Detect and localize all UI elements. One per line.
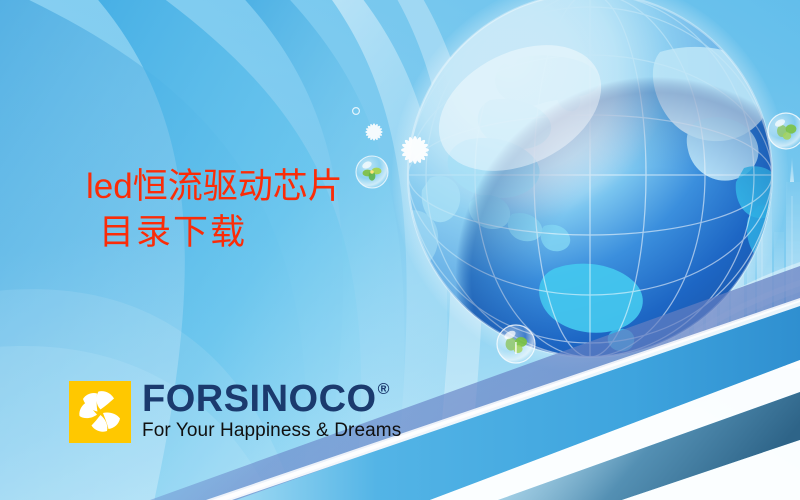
promotional-banner: led恒流驱动芯片 目录下载 FORSINOCO ® For Your Happ… bbox=[0, 0, 800, 500]
logo-text-block: FORSINOCO ® For Your Happiness & Dreams bbox=[142, 381, 401, 440]
registered-trademark-icon: ® bbox=[378, 382, 390, 398]
headline: led恒流驱动芯片 目录下载 bbox=[86, 164, 343, 255]
logo-wordmark-row: FORSINOCO ® bbox=[142, 381, 401, 418]
company-logo: FORSINOCO ® For Your Happiness & Dreams bbox=[69, 381, 401, 443]
logo-tagline: For Your Happiness & Dreams bbox=[142, 421, 401, 440]
headline-line-1: led恒流驱动芯片 bbox=[86, 164, 343, 210]
logo-wordmark: FORSINOCO bbox=[142, 381, 377, 418]
logo-mark-background bbox=[69, 381, 131, 443]
forsinoco-pinwheel-mark bbox=[69, 381, 131, 443]
headline-line-2: 目录下载 bbox=[86, 210, 343, 256]
